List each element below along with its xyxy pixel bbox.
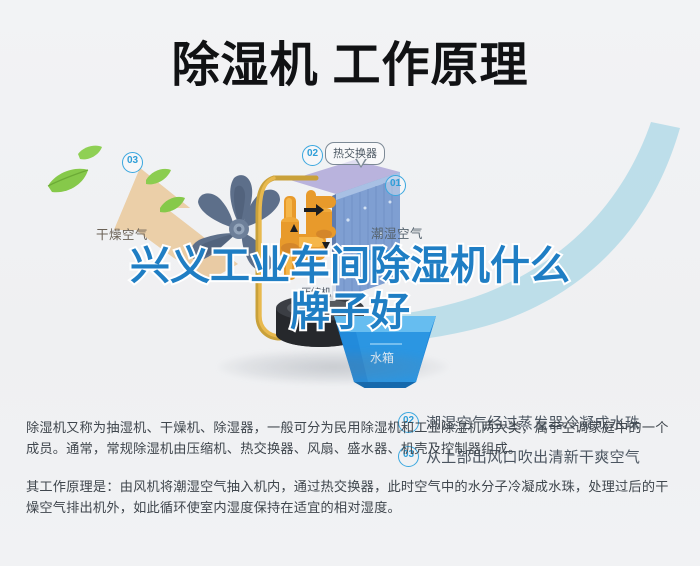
infographic-page: 除湿机工作原理 (0, 0, 700, 566)
body-paragraph-2: 其工作原理是：由风机将潮湿空气抽入机内，通过热交换器，此时空气中的水分子冷凝成水… (26, 477, 676, 519)
body-paragraph-1: 除湿机又称为抽湿机、干燥机、除湿器，一般可分为民用除湿机和工业除湿机两大类，属于… (26, 418, 676, 460)
dehumidifier-diagram: 压缩机 水箱 03 干燥空气 02 热交换器 0 (0, 118, 700, 403)
body-copy: 除湿机又称为抽湿机、干燥机、除湿器，一般可分为民用除湿机和工业除湿机两大类，属于… (26, 418, 676, 519)
diagram-marker-01: 01 (385, 175, 406, 196)
diagram-label-humid-air: 潮湿空气 (371, 223, 423, 242)
diagram-marker-02: 02 (302, 145, 323, 166)
svg-text:压缩机: 压缩机 (301, 286, 331, 299)
diagram-marker-03: 03 (122, 152, 143, 173)
page-title-part1: 除湿机 (171, 37, 318, 93)
page-title-part2: 工作原理 (333, 37, 529, 93)
page-title: 除湿机工作原理 (0, 36, 700, 94)
arrow-left-icon (355, 246, 399, 264)
diagram-label-dry-air: 干燥空气 (96, 224, 148, 243)
floor-shadow (218, 350, 448, 384)
callout-tail-icon (355, 159, 367, 168)
